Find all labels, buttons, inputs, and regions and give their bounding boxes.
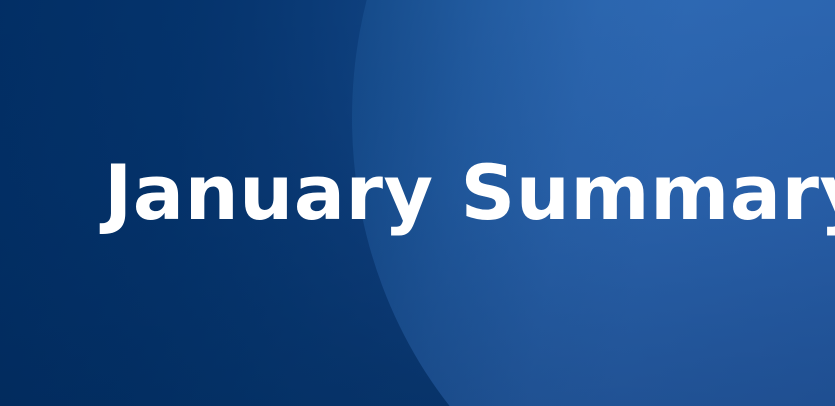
page-title: January Summary (0, 155, 835, 231)
january-summary-banner: January Summary (0, 0, 835, 406)
title-layer: January Summary (0, 0, 835, 406)
